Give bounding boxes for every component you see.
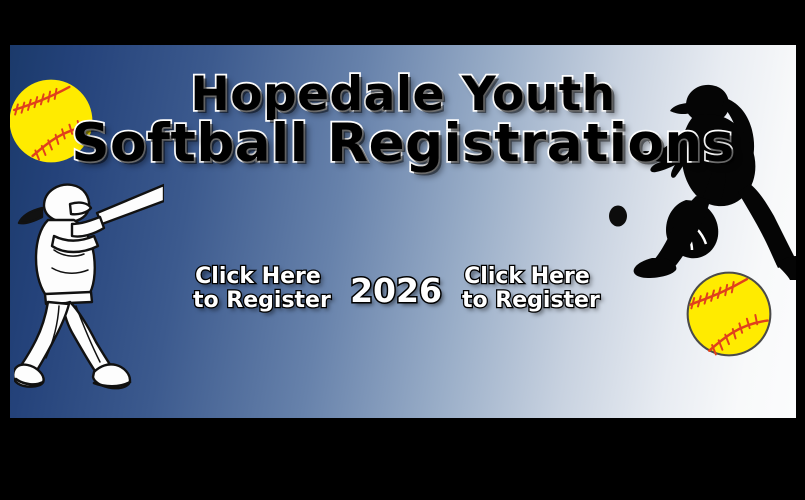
softball-registration-banner: Hopedale Youth Softball Registrations Cl… [10,45,796,418]
title-line-1: Hopedale Youth [10,71,796,119]
register-link-left[interactable]: Click Here to Register [193,265,323,313]
batter-illustration [14,180,164,398]
page-root: Hopedale Youth Softball Registrations Cl… [0,0,805,500]
register-link-right-line-2: to Register [462,289,592,313]
banner-title: Hopedale Youth Softball Registrations [10,71,796,171]
title-line-2: Softball Registrations [10,117,796,171]
softball-bottom-right-icon [682,267,776,361]
season-year: 2026 [340,271,452,310]
register-link-left-line-2: to Register [193,289,323,313]
register-link-right[interactable]: Click Here to Register [462,265,592,313]
register-link-right-line-1: Click Here [462,265,592,289]
register-link-left-line-1: Click Here [193,265,323,289]
softball-top-left-icon [10,75,97,167]
softball-in-flight-icon [608,205,628,227]
fielder-silhouette [630,80,796,280]
